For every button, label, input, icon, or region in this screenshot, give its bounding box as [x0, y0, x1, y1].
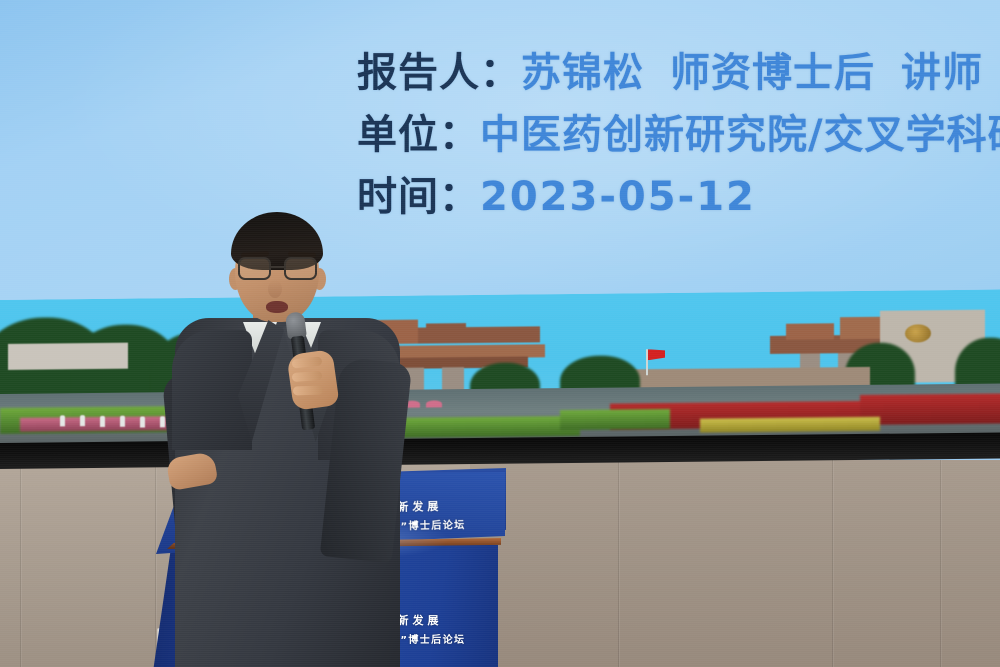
slide-label-presenter: 报告人：: [357, 40, 521, 98]
bollard: [120, 416, 125, 427]
conference-photo-scene: 报告人： 苏锦松 师资博士后 讲师 单 位： 中医药创新研究院/交叉学科研 时 …: [0, 0, 1000, 667]
slide-value-date: 2023-05-12: [480, 174, 756, 220]
bollard: [80, 415, 85, 426]
slide-line-presenter: 报告人： 苏锦松 师资博士后 讲师: [357, 40, 1000, 102]
slide-line-affiliation: 单 位： 中医药创新研究院/交叉学科研: [357, 102, 1000, 164]
wall-seam: [155, 452, 156, 667]
wall-seam: [618, 460, 619, 667]
umbrella: [426, 400, 442, 407]
slide-text-block: 报告人： 苏锦松 师资博士后 讲师 单 位： 中医药创新研究院/交叉学科研 时 …: [357, 40, 1000, 226]
mouth: [266, 301, 288, 313]
flag-pole: [646, 349, 648, 375]
suit-shoulder-left: [172, 330, 252, 450]
slide-label-affiliation-part1: 单: [357, 102, 398, 160]
bollard: [100, 416, 105, 427]
wall-seam: [20, 452, 21, 667]
slide-label-affiliation-part2: 位：: [398, 102, 480, 160]
glasses-lens-right: [284, 257, 317, 280]
flowerbed: [560, 409, 670, 430]
nose: [268, 280, 282, 298]
flowerbed: [860, 393, 1000, 425]
glasses-bridge: [271, 266, 284, 268]
microphone-head: [285, 311, 307, 339]
glasses-lens-left: [238, 257, 271, 280]
building: [8, 343, 128, 370]
glasses-icon: [237, 257, 319, 281]
finger: [293, 385, 323, 395]
flowerbed: [20, 416, 170, 432]
slide-value-presenter-name: 苏锦松: [521, 40, 644, 98]
bollard: [60, 415, 65, 426]
wall-seam: [940, 460, 941, 667]
bollard: [160, 416, 165, 427]
slide-label-date-part1: 时: [357, 164, 398, 222]
flowerbed: [700, 417, 880, 433]
slide-line-date: 时 间： 2023-05-12: [357, 164, 1000, 226]
slide-value-presenter-title2: 讲师: [901, 40, 983, 98]
slide-value-presenter-title1: 师资博士后: [670, 40, 875, 98]
slide-value-affiliation: 中医药创新研究院/交叉学科研: [480, 102, 1000, 160]
slide-label-date-part2: 间：: [398, 164, 480, 222]
wall-seam: [832, 460, 833, 667]
bollard: [140, 416, 145, 427]
slide-campus-photo: [0, 290, 1000, 452]
